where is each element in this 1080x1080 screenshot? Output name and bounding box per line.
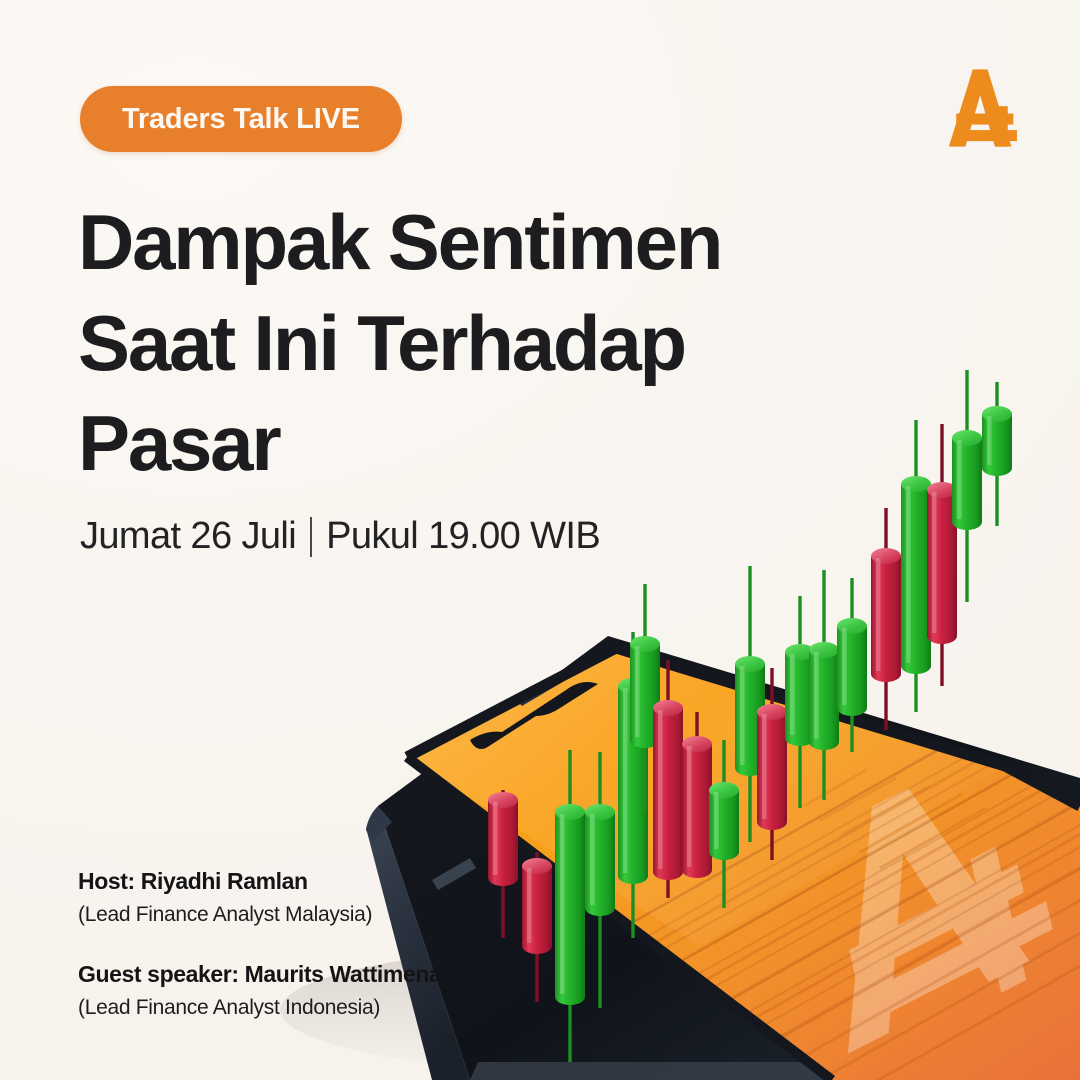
abra-a-logo-icon [936,62,1028,154]
schedule-separator [310,517,312,557]
promo-poster: Traders Talk LIVE Dampak Sentimen Saat I… [0,0,1080,1080]
host-role: (Lead Finance Analyst Malaysia) [78,900,548,929]
candlestick [901,420,931,712]
credits-block: Host: Riyadhi Ramlan (Lead Finance Analy… [78,866,548,1023]
live-badge: Traders Talk LIVE [80,86,402,152]
headline-line-1: Dampak Sentimen [78,192,818,293]
schedule-date: Jumat 26 Juli [80,515,296,558]
guest-role: (Lead Finance Analyst Indonesia) [78,993,548,1022]
guest-name: Guest speaker: Maurits Wattimena [78,959,548,990]
host-credit: Host: Riyadhi Ramlan (Lead Finance Analy… [78,866,548,929]
schedule-line: Jumat 26 Juli Pukul 19.00 WIB [80,515,600,558]
headline-line-2: Saat Ini Terhadap [78,293,818,394]
page-title: Dampak Sentimen Saat Ini Terhadap Pasar [78,192,818,494]
schedule-time: Pukul 19.00 WIB [326,515,600,558]
headline-line-3: Pasar [78,393,818,494]
candlestick [982,382,1012,526]
guest-credit: Guest speaker: Maurits Wattimena (Lead F… [78,959,548,1022]
host-name: Host: Riyadhi Ramlan [78,866,548,897]
candlestick [871,508,901,730]
